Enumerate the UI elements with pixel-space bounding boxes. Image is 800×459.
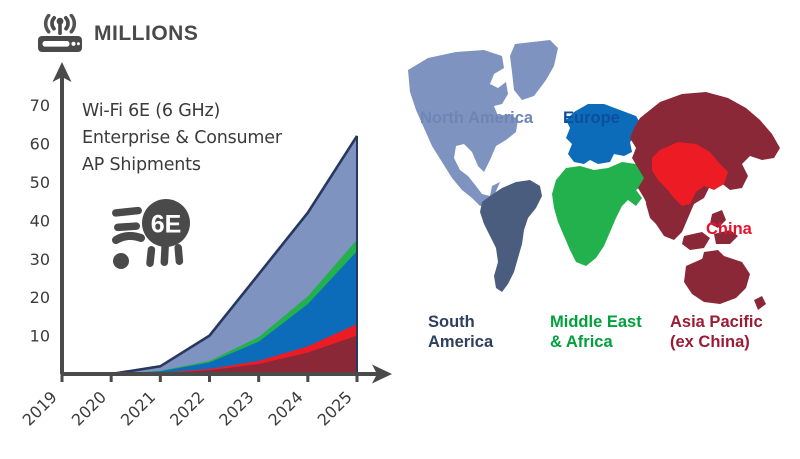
- x-axis-tick-label: 2023: [215, 387, 257, 429]
- map-label-asia-pacific: Asia Pacific (ex China): [670, 312, 763, 352]
- x-axis-tick-label: 2022: [166, 387, 208, 429]
- map-panel: North America Europe China South America…: [398, 0, 800, 454]
- y-axis-tick-label: 50: [30, 173, 50, 192]
- map-label-south-america: South America: [428, 312, 493, 352]
- y-axis-tick-labels: 10203040506070: [30, 96, 50, 345]
- x-axis-tick-label: 2024: [264, 387, 306, 429]
- map-label-china: China: [706, 219, 752, 239]
- x-axis-tick-label: 2019: [19, 387, 61, 429]
- infographic-root: MILLIONS 1020304050607: [0, 0, 800, 454]
- x-axis-tick-label: 2020: [68, 387, 110, 429]
- y-axis-tick-label: 70: [30, 96, 50, 115]
- chart-title: Wi-Fi 6E (6 GHz) Enterprise & Consumer A…: [82, 98, 282, 179]
- y-axis-tick-label: 60: [30, 135, 50, 154]
- map-label-north-america: North America: [420, 108, 533, 128]
- map-label-europe: Europe: [563, 108, 620, 128]
- map-label-middle-east-africa: Middle East & Africa: [550, 312, 642, 352]
- map-shape-australia[interactable]: [684, 256, 750, 304]
- chart-panel: MILLIONS 1020304050607: [0, 0, 400, 454]
- y-axis-tick-label: 10: [30, 327, 50, 346]
- y-axis-tick-label: 20: [30, 288, 50, 307]
- map-shape-greenland[interactable]: [510, 40, 558, 100]
- area-chart: 10203040506070 2019202020212022202320242…: [0, 0, 400, 454]
- map-shape-south-america[interactable]: [480, 180, 542, 292]
- x-axis-tick-labels: 2019202020212022202320242025: [19, 387, 356, 429]
- map-shape-new-zealand[interactable]: [754, 296, 766, 310]
- map-shape-north-america[interactable]: [408, 50, 518, 206]
- x-axis-tick-label: 2025: [314, 387, 356, 429]
- y-axis-tick-label: 40: [30, 211, 50, 230]
- y-axis-tick-label: 30: [30, 250, 50, 269]
- wifi-6e-logo-text: 6E: [151, 211, 182, 239]
- x-axis-tick-label: 2021: [117, 387, 159, 429]
- wifi-6e-logo: 6E: [110, 198, 196, 272]
- y-axis: [53, 62, 72, 374]
